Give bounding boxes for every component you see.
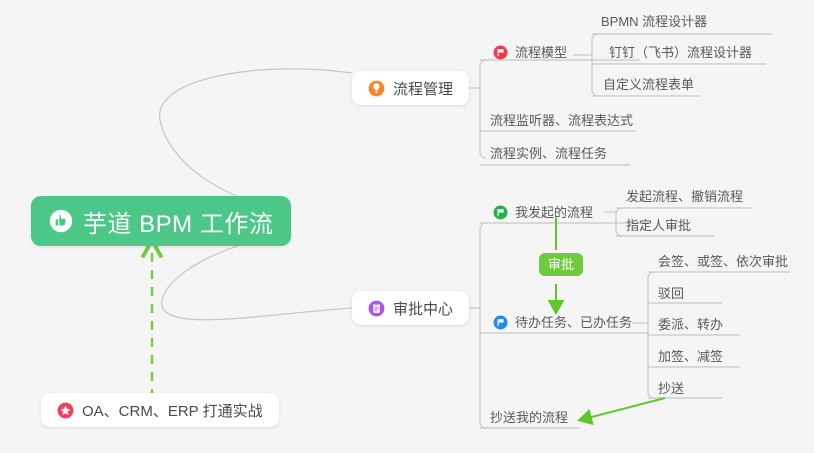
star-icon — [57, 402, 74, 419]
trunk-my-started — [616, 208, 622, 236]
leaf-node-dingtalk-designer[interactable]: 钉钉（飞书）流程设计器 — [609, 46, 752, 59]
flag-icon — [493, 315, 508, 330]
child-node-process-model[interactable]: 流程模型 — [493, 45, 567, 60]
leaf-label-delegate-transfer: 委派、转办 — [658, 317, 723, 332]
child-node-process-listener[interactable]: 流程监听器、流程表达式 — [490, 114, 633, 127]
leaf-node-delegate-transfer[interactable]: 委派、转办 — [658, 318, 723, 331]
child-node-todo-done-tasks[interactable]: 待办任务、已办任务 — [493, 315, 632, 330]
leaf-node-reject[interactable]: 驳回 — [658, 287, 684, 300]
child-label-cc-to-me-processes: 抄送我的流程 — [490, 410, 568, 425]
root-label: 芋道 BPM 工作流 — [83, 204, 273, 239]
leaf-label-assignee-approval: 指定人审批 — [626, 218, 691, 233]
root-node[interactable]: 芋道 BPM 工作流 — [31, 196, 291, 246]
child-node-my-started-processes[interactable]: 我发起的流程 — [493, 205, 593, 220]
child-node-process-instance[interactable]: 流程实例、流程任务 — [490, 147, 607, 160]
trunk-process-model — [592, 34, 598, 96]
edge-root-to-process-management — [160, 69, 352, 207]
child-label-process-model: 流程模型 — [515, 46, 567, 59]
mindmap-canvas: 芋道 BPM 工作流 OA、CRM、ERP 打通实战 流程管理 — [0, 0, 814, 453]
branch-label-process-management: 流程管理 — [393, 78, 453, 99]
branch-node-approval-center[interactable]: 审批中心 — [352, 291, 469, 325]
leaf-node-bpmn-designer[interactable]: BPMN 流程设计器 — [601, 15, 707, 28]
approval-flow-badge[interactable]: 审批 — [539, 253, 583, 276]
lightbulb-icon — [368, 80, 385, 97]
leaf-label-dingtalk-designer: 钉钉（飞书）流程设计器 — [609, 45, 752, 60]
child-label-my-started-processes: 我发起的流程 — [515, 206, 593, 219]
leaf-label-cc: 抄送 — [658, 381, 684, 396]
approval-flow-badge-label: 审批 — [548, 257, 574, 272]
leaf-label-start-cancel-process: 发起流程、撤销流程 — [626, 189, 743, 204]
clipboard-icon — [368, 300, 385, 317]
leaf-node-add-remove-sign[interactable]: 加签、减签 — [658, 350, 723, 363]
leaf-label-bpmn-designer: BPMN 流程设计器 — [601, 14, 707, 29]
leaf-label-reject: 驳回 — [658, 286, 684, 301]
child-label-process-listener: 流程监听器、流程表达式 — [490, 113, 633, 128]
leaf-label-add-remove-sign: 加签、减签 — [658, 349, 723, 364]
trunk-approval-center — [480, 223, 486, 428]
branch-node-process-management[interactable]: 流程管理 — [352, 71, 469, 105]
leaf-node-custom-form[interactable]: 自定义流程表单 — [603, 78, 694, 91]
flag-icon — [493, 205, 508, 220]
leaf-node-countersign[interactable]: 会签、或签、依次审批 — [658, 255, 788, 268]
edge-root-to-approval-center — [162, 236, 352, 320]
branch-label-approval-center: 审批中心 — [393, 298, 453, 319]
trunk-todo-done — [648, 272, 654, 398]
leaf-node-cc[interactable]: 抄送 — [658, 382, 684, 395]
child-node-cc-to-me-processes[interactable]: 抄送我的流程 — [490, 411, 568, 424]
thumbs-up-icon — [49, 209, 73, 233]
leaf-node-assignee-approval[interactable]: 指定人审批 — [626, 219, 691, 232]
leaf-label-countersign: 会签、或签、依次审批 — [658, 254, 788, 269]
flag-icon — [493, 45, 508, 60]
trunk-process-management — [480, 60, 486, 158]
child-label-todo-done-tasks: 待办任务、已办任务 — [515, 316, 632, 329]
child-label-process-instance: 流程实例、流程任务 — [490, 146, 607, 161]
leaf-node-start-cancel-process[interactable]: 发起流程、撤销流程 — [626, 190, 743, 203]
leaf-label-custom-form: 自定义流程表单 — [603, 77, 694, 92]
bottom-note-node[interactable]: OA、CRM、ERP 打通实战 — [41, 393, 279, 427]
arrow-cc-to-my-processes — [580, 398, 665, 420]
bottom-note-label: OA、CRM、ERP 打通实战 — [82, 400, 263, 421]
